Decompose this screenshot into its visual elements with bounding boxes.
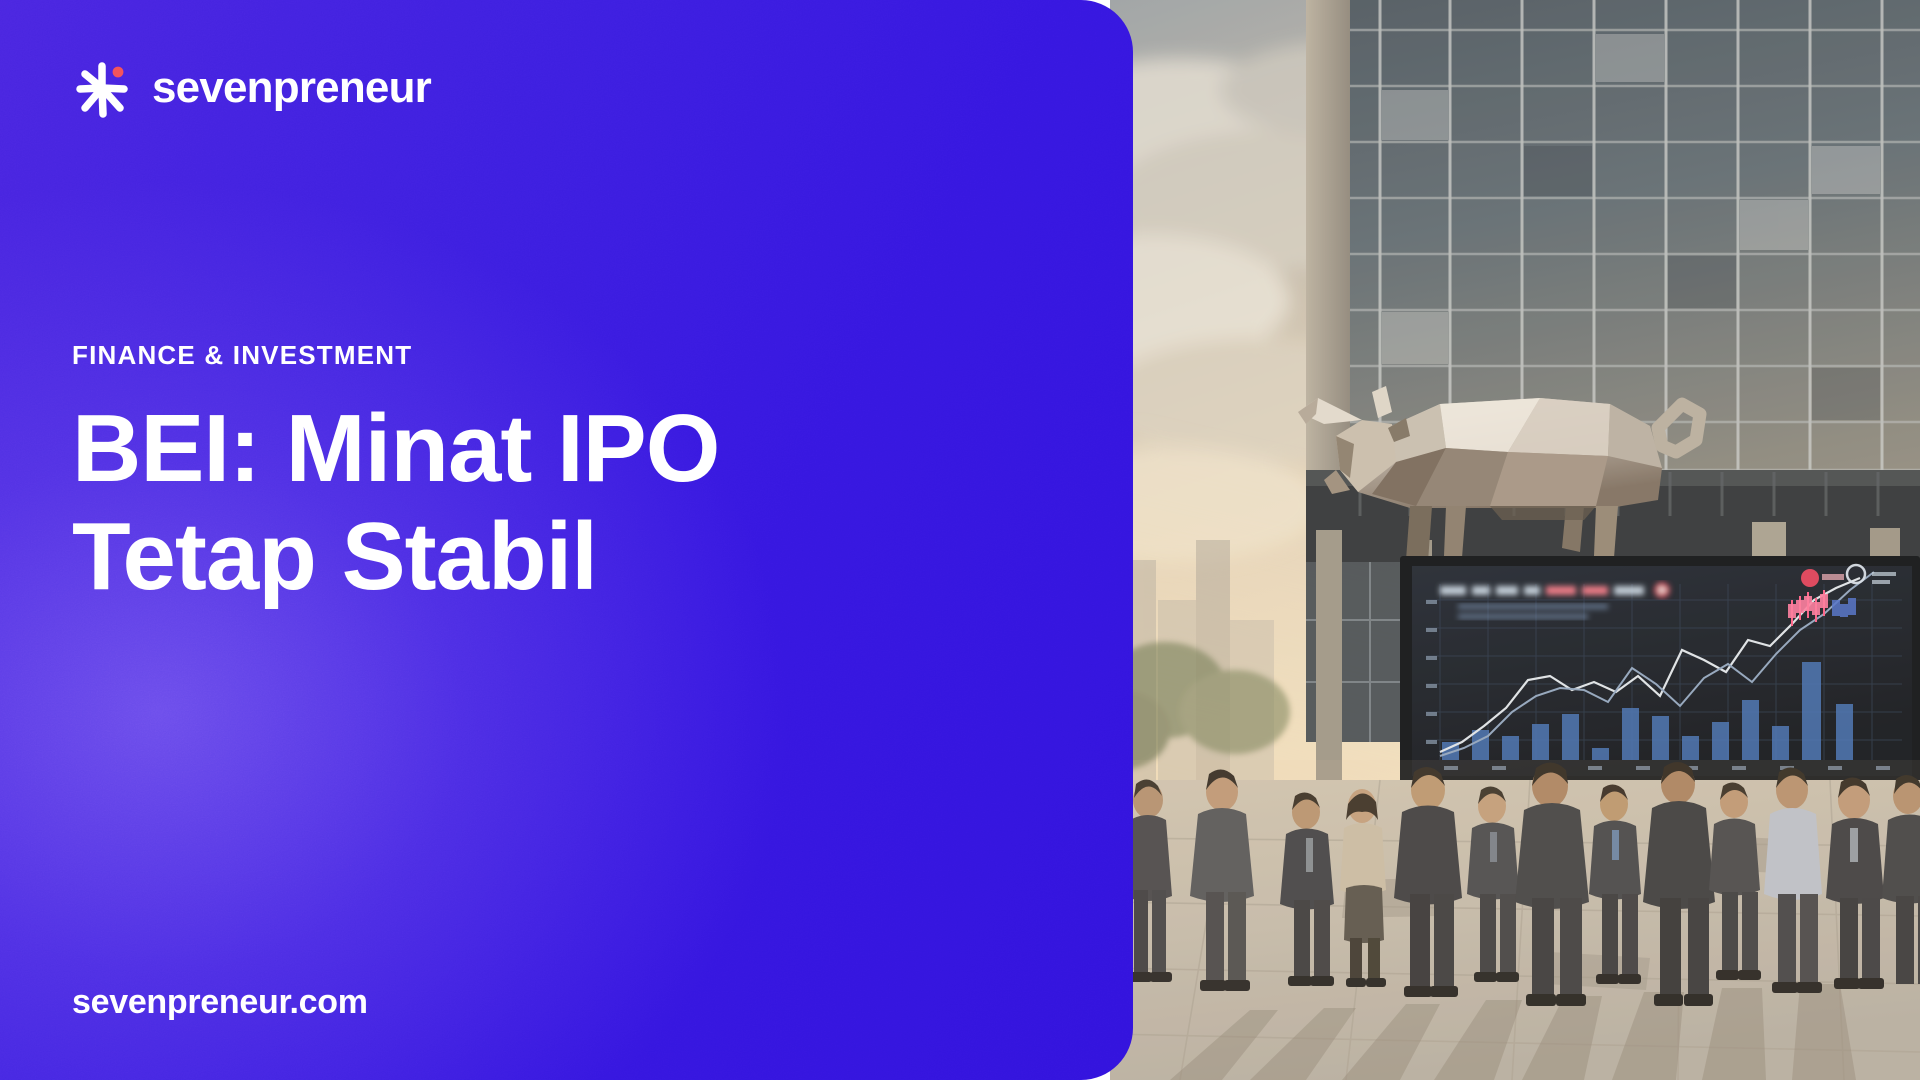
hero-photo [1110,0,1920,1080]
page-title: BEI: Minat IPO Tetap Stabil [72,395,1022,612]
headline-line-2: Tetap Stabil [72,503,1022,611]
sevenpreneur-asterisk-icon [72,58,132,118]
hero-photo-illustration [1110,0,1920,1080]
content-panel: sevenpreneur FINANCE & INVESTMENT BEI: M… [0,0,1133,1080]
headline-line-1: BEI: Minat IPO [72,395,1022,503]
category-eyebrow: FINANCE & INVESTMENT [72,340,412,371]
website-url[interactable]: sevenpreneur.com [72,983,368,1022]
brand-wordmark: sevenpreneur [152,66,431,110]
brand-logo[interactable]: sevenpreneur [72,58,431,118]
news-card-poster: sevenpreneur FINANCE & INVESTMENT BEI: M… [0,0,1920,1080]
logo-accent-dot [113,67,124,78]
